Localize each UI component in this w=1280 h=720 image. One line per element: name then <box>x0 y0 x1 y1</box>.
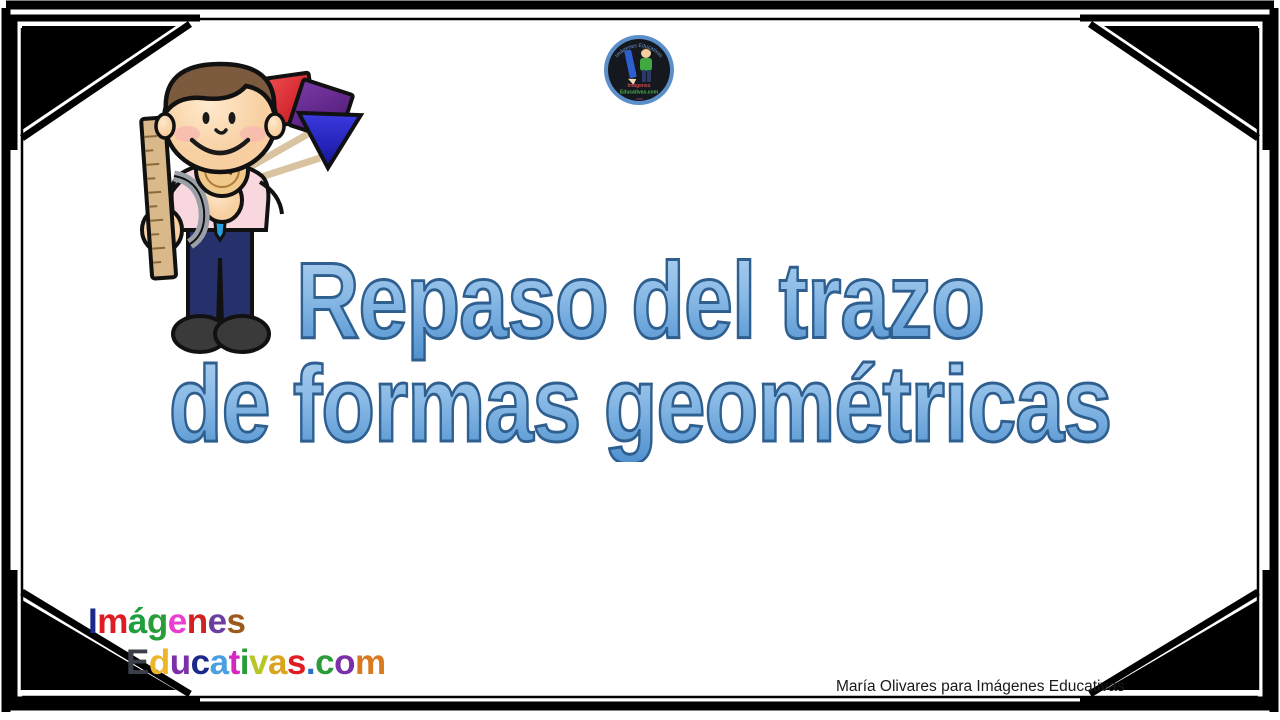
wordmark-line-1: Imágenes <box>88 604 378 639</box>
worksheet-cover-page: Imágenes Educativas Imágenes Educativas.… <box>0 0 1280 720</box>
wordmark-char: i <box>240 643 249 682</box>
page-title: Repaso del trazo de formas geométricas <box>0 252 1280 462</box>
wordmark-char: e <box>168 602 187 641</box>
wordmark-char: s <box>287 643 306 682</box>
wordmark-char: t <box>229 643 240 682</box>
wordmark-char: u <box>170 643 191 682</box>
wordmark-char: . <box>306 643 315 682</box>
wordmark-char: c <box>315 643 334 682</box>
title-graphic: Repaso del trazo de formas geométricas <box>90 252 1190 462</box>
wordmark-char: s <box>227 602 246 641</box>
wordmark-char: a <box>210 643 229 682</box>
wordmark-char: o <box>334 643 355 682</box>
wordmark-char: g <box>147 602 168 641</box>
left-ear <box>156 114 174 138</box>
wordmark-line-2: Educativas.com <box>126 645 378 680</box>
right-ear <box>266 114 284 138</box>
wordmark-char: m <box>97 602 128 641</box>
badge-subtext-1: Imágenes <box>627 83 650 89</box>
wordmark-char: á <box>128 602 147 641</box>
wordmark-char: a <box>268 643 287 682</box>
wordmark-char: n <box>187 602 208 641</box>
wordmark-char: c <box>191 643 210 682</box>
left-eye <box>203 112 210 124</box>
right-cheek <box>240 126 266 142</box>
imagenes-educativas-badge: Imágenes Educativas Imágenes Educativas.… <box>602 34 676 106</box>
imagenes-educativas-wordmark: Imágenes Educativas.com <box>88 604 378 686</box>
wordmark-char: v <box>249 643 268 682</box>
left-cheek <box>174 126 200 142</box>
wordmark-char: e <box>208 602 227 641</box>
author-credit: María Olivares para Imágenes Educativas <box>836 678 1125 696</box>
wordmark-char: d <box>149 643 170 682</box>
title-line-2: de formas geométricas <box>169 344 1111 462</box>
badge-graphic: Imágenes Educativas Imágenes Educativas.… <box>602 34 676 106</box>
wordmark-char: I <box>88 602 97 641</box>
right-eye <box>229 112 236 124</box>
wordmark-char: m <box>355 643 386 682</box>
wordmark-char: E <box>126 643 149 682</box>
badge-subtext-2: Educativas.com <box>620 90 659 96</box>
badge-footer-text: .com <box>635 97 643 101</box>
